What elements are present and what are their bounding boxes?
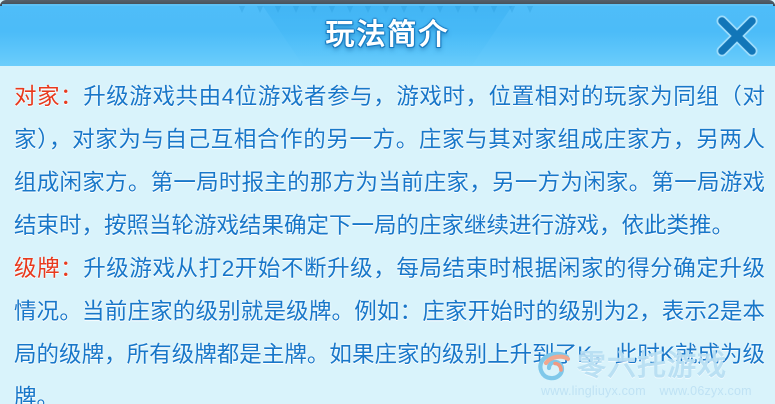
- rule-term-label: 对家：: [14, 84, 83, 109]
- rule-term-label: 级牌：: [14, 256, 83, 281]
- rule-paragraph: 级牌：升级游戏从打2开始不断升级，每局结束时根据闲家的得分确定升级情况。当前庄家…: [0, 247, 775, 404]
- rules-content: 对家：升级游戏共由4位游戏者参与，游戏时，位置相对的玩家为同组（对家），对家为与…: [0, 66, 775, 404]
- close-button[interactable]: [711, 12, 763, 60]
- game-rules-dialog: 玩法简介 对家：升级游戏共由4位游戏者参与，游戏时，位置相对的玩家为同组（对家）…: [0, 0, 775, 404]
- close-x-icon: [715, 15, 759, 57]
- window-top-rim: [0, 0, 775, 6]
- rule-paragraph: 对家：升级游戏共由4位游戏者参与，游戏时，位置相对的玩家为同组（对家），对家为与…: [0, 66, 775, 247]
- rule-paragraph-text: 升级游戏从打2开始不断升级，每局结束时根据闲家的得分确定升级情况。当前庄家的级别…: [14, 256, 765, 404]
- page-title: 玩法简介: [0, 13, 775, 57]
- dialog-header: 玩法简介: [0, 4, 775, 66]
- rule-paragraph-text: 升级游戏共由4位游戏者参与，游戏时，位置相对的玩家为同组（对家），对家为与自己互…: [14, 84, 765, 238]
